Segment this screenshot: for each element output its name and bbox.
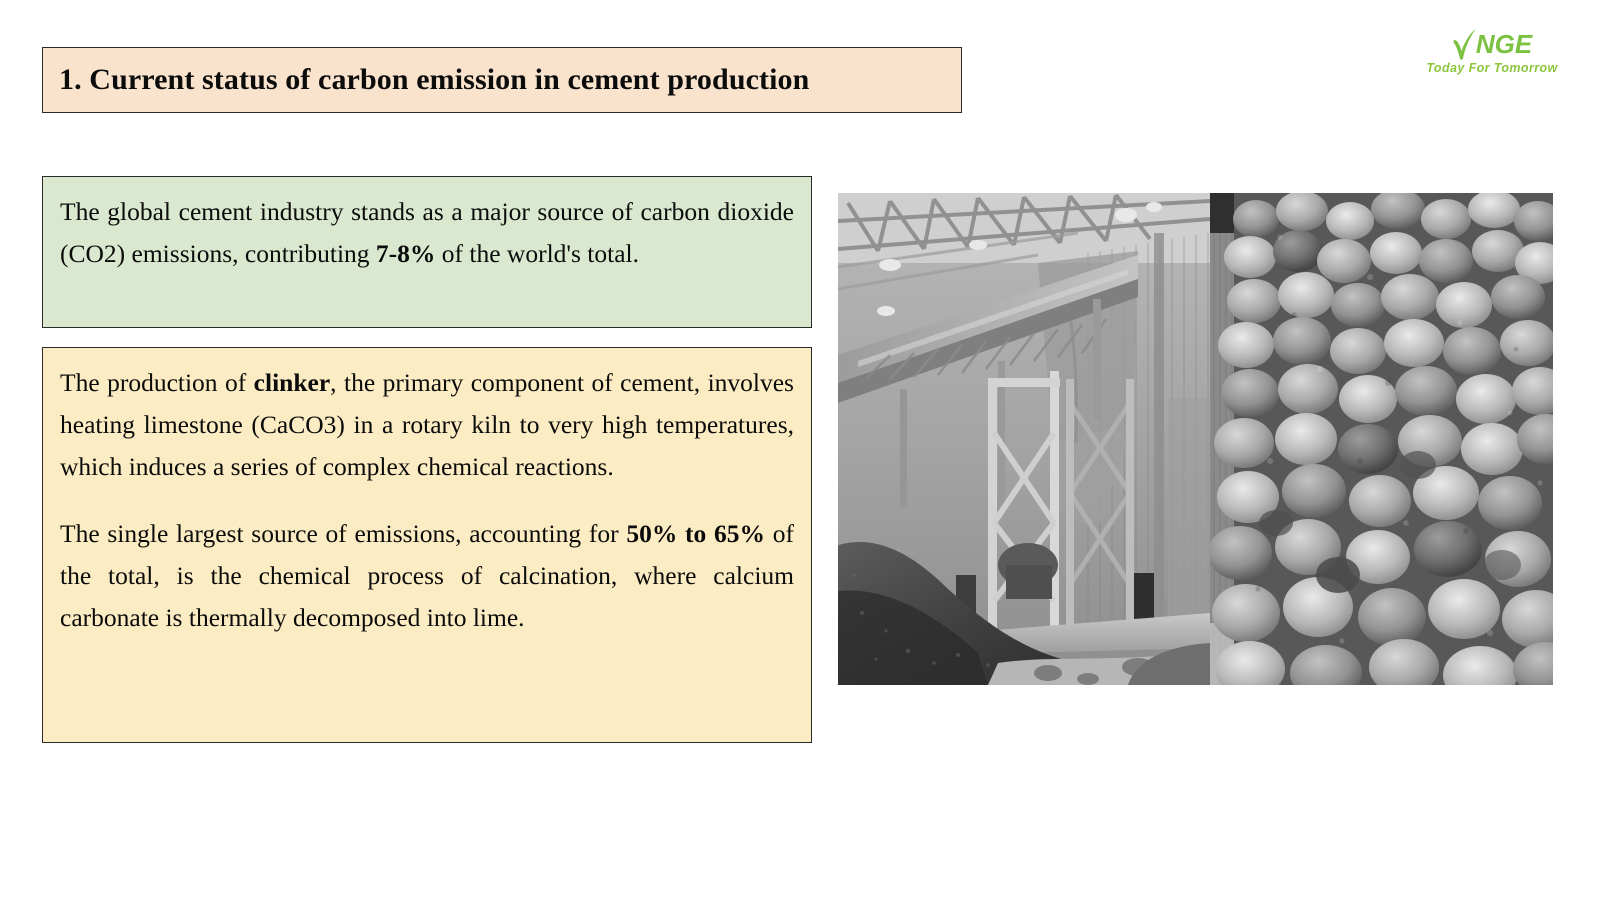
image-pair [838,193,1553,685]
callout-cream-paragraph-2: The single largest source of emissions, … [60,513,794,638]
emphasis-text: 7-8% [376,239,436,268]
emphasis-text: 50% to 65% [626,519,765,548]
logo-wordmark: NGE [1412,24,1572,60]
callout-green: The global cement industry stands as a m… [42,176,812,328]
body-text: of the world's total. [435,239,639,268]
emphasis-text: clinker [254,368,331,397]
callout-cream-paragraph-1: The production of clinker, the primary c… [60,362,794,487]
callout-green-paragraph-1: The global cement industry stands as a m… [60,191,794,275]
body-text: The production of [60,368,254,397]
cement-plant-conveyor-photo [838,193,1210,685]
logo-tagline: Today For Tomorrow [1412,61,1572,75]
callout-cream: The production of clinker, the primary c… [42,347,812,743]
logo-letters: NGE [1476,31,1532,57]
clinker-nodules-photo [1210,193,1553,685]
slide-title: 1. Current status of carbon emission in … [43,63,809,97]
slide-title-box: 1. Current status of carbon emission in … [42,47,962,113]
logo-checkmark-v-icon [1452,27,1478,61]
company-logo: NGE Today For Tomorrow [1412,24,1572,86]
body-text: The single largest source of emissions, … [60,519,626,548]
